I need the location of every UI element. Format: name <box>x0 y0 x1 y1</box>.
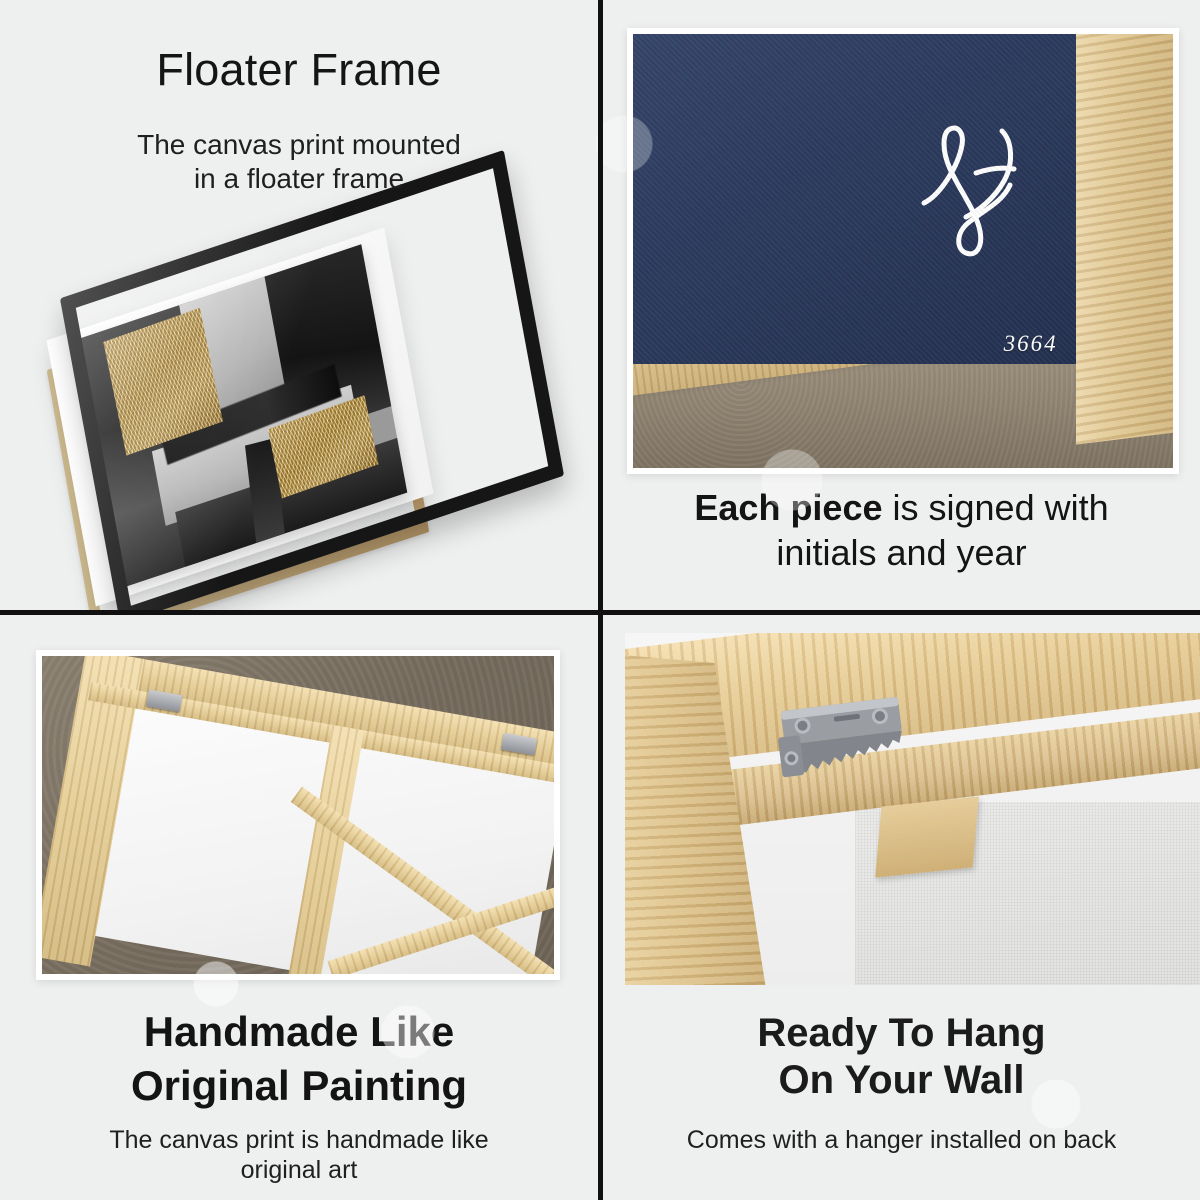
ready-title-line-1: Ready To Hang <box>603 1010 1200 1057</box>
vertical-divider <box>598 0 603 1200</box>
caption-regular-part: is signed with <box>883 487 1109 528</box>
subtitle-line-1: The canvas print mounted <box>40 128 558 162</box>
signed-canvas-photo: 3664 <box>627 28 1179 474</box>
signed-artwork-caption: Each piece is signed with initials and y… <box>611 485 1192 575</box>
hanger-photo <box>625 633 1200 985</box>
infographic-board: Floater Frame The canvas print mounted i… <box>0 0 1200 1200</box>
handmade-title-line-1: Handmade Like <box>0 1005 598 1059</box>
ready-subtitle: Comes with a hanger installed on back <box>608 1125 1195 1155</box>
panel-floater-frame: Floater Frame The canvas print mounted i… <box>0 0 598 610</box>
frame-right-rail <box>1076 34 1173 444</box>
ready-to-hang-subtitle: Comes with a hanger installed on back <box>608 1125 1195 1155</box>
panel-handmade: Handmade Like Original Painting The canv… <box>0 615 598 1200</box>
ready-to-hang-title: Ready To Hang On Your Wall <box>603 1010 1200 1104</box>
handmade-subtitle-line-2: original art <box>20 1155 578 1185</box>
page-title: Floater Frame <box>0 46 598 93</box>
signature-year: 3664 <box>1004 331 1058 357</box>
panel-ready-to-hang: Ready To Hang On Your Wall Comes with a … <box>603 615 1200 1200</box>
caption-line-2: initials and year <box>611 530 1192 575</box>
navy-canvas: 3664 <box>633 34 1076 364</box>
floater-frame-title: Floater Frame <box>0 46 598 93</box>
handmade-subtitle-line-1: The canvas print is handmade like <box>20 1125 578 1155</box>
handmade-title: Handmade Like Original Painting <box>0 1005 598 1113</box>
ready-title-line-2: On Your Wall <box>603 1057 1200 1104</box>
caption-bold-part: Each piece <box>694 487 882 528</box>
handmade-title-line-2: Original Painting <box>0 1059 598 1113</box>
canvas-back-photo <box>36 650 560 980</box>
floater-frame-exploded-illustration <box>0 195 598 610</box>
handmade-subtitle: The canvas print is handmade like origin… <box>20 1125 578 1185</box>
panel-signed-artwork: 3664 Each piece is signed with initials … <box>603 0 1200 610</box>
subtitle-line-2: in a floater frame <box>40 162 558 196</box>
black-floater-frame-layer <box>60 150 564 610</box>
artist-signature-icon <box>906 107 1026 277</box>
caption-line-1: Each piece is signed with <box>611 485 1192 530</box>
corner-wedge <box>875 796 978 878</box>
floater-frame-subtitle: The canvas print mounted in a floater fr… <box>40 128 558 195</box>
sawtooth-hanger-icon <box>775 693 925 798</box>
horizontal-divider <box>0 610 1200 615</box>
